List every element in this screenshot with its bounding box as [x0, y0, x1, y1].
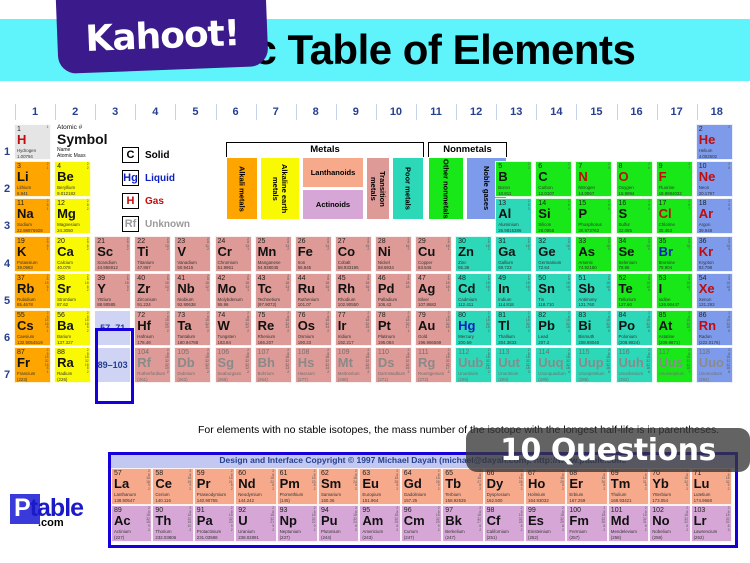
element-cell-Ni[interactable]: 28NiNickel58.693428162 — [375, 236, 412, 272]
element-name: Tellurium — [619, 297, 637, 302]
element-cell-Zr[interactable]: 40ZrZirconium91.2242818102 — [134, 273, 171, 309]
element-name: Meitnerium — [338, 371, 360, 376]
category-block-transition-metals[interactable]: Transition metals — [366, 157, 390, 220]
element-cell-Lr[interactable]: 103LrLawrencium(262)2818323283 — [691, 505, 732, 542]
element-atomic-mass: 174.9668 — [694, 498, 712, 503]
element-cell-Sb[interactable]: 51SbAntimony121.7602818185 — [575, 273, 612, 309]
element-cell-Lu[interactable]: 71LuLutetium174.966828183292 — [691, 468, 732, 505]
state-legend-row-gas[interactable]: HGas — [122, 191, 190, 211]
group-number-10[interactable]: 10 — [376, 104, 415, 120]
element-name: Curium — [404, 529, 418, 534]
element-cell-Bh[interactable]: 107BhBohrium(264)28183232132 — [255, 347, 292, 383]
element-shell-config: 285 — [608, 200, 610, 211]
element-cell-Sr[interactable]: 38SrStrontium87.62281882 — [54, 273, 91, 309]
element-cell-Ds[interactable]: 110DsDarmstadtium(271)28183232162 — [375, 347, 412, 383]
element-symbol: Uuq — [538, 356, 563, 370]
element-name: Rhenium — [258, 334, 276, 339]
element-cell-Rn[interactable]: 86RnRadon(222.0176)281832188 — [696, 310, 733, 346]
element-cell-Be[interactable]: 4BeBeryllium9.01218222 — [54, 161, 91, 197]
element-cell-Uub[interactable]: 112UubUnunbium(285)28183232182 — [455, 347, 492, 383]
period-number-3[interactable]: 3 — [0, 208, 14, 245]
category-block-other-nonmetals[interactable]: Other nonmetals — [428, 157, 464, 220]
element-cell-Cl[interactable]: 17ClChlorine35.453287 — [656, 198, 693, 234]
element-symbol: Es — [528, 514, 544, 528]
element-name: Magnesium — [57, 222, 80, 227]
element-shell-config: 284 — [568, 200, 570, 211]
element-cell-Yb[interactable]: 70YbYtterbium173.05428183282 — [649, 468, 690, 505]
element-cell-Hg[interactable]: 80HgMercury200.59281832182 — [455, 310, 492, 346]
element-cell-Uut[interactable]: 113UutUnuntrium(284)28183232183 — [495, 347, 532, 383]
element-cell-Uuo[interactable]: 118UuoUnunoctium(294)28183232188 — [696, 347, 733, 383]
element-atomic-mass: 10.811 — [498, 191, 511, 196]
category-bracket-metals: Metals — [226, 142, 424, 157]
element-atomic-mass: 9.012182 — [57, 191, 75, 196]
group-number-1[interactable]: 1 — [15, 104, 54, 120]
element-cell-Y[interactable]: 39YYttrium88.90585281892 — [94, 273, 131, 309]
element-shell-config: 281832183 — [526, 312, 530, 334]
element-cell-Ho[interactable]: 67HoHolmium164.9303228182982 — [525, 468, 566, 505]
element-name: Cerium — [155, 492, 169, 497]
period-number-6[interactable]: 6 — [0, 320, 14, 357]
element-atomic-mass: 140.90765 — [197, 498, 218, 503]
element-cell-B[interactable]: 5BBoron10.81123 — [495, 161, 532, 197]
element-cell-Mt[interactable]: 109MtMeitnerium(268)28183232152 — [335, 347, 372, 383]
element-cell-Tc[interactable]: 43TcTechnetium(97.9072)2818132 — [255, 273, 292, 309]
element-shell-config: 28142 — [325, 238, 329, 252]
element-cell-Zn[interactable]: 30ZnZinc65.3828182 — [455, 236, 492, 272]
element-atomic-mass: 30.973762 — [578, 228, 599, 233]
element-cell-Re[interactable]: 75ReRhenium186.207281832132 — [255, 310, 292, 346]
element-shell-config: 28182982 — [560, 470, 564, 492]
element-symbol: Br — [659, 245, 673, 259]
element-name: Antimony — [578, 297, 596, 302]
element-shell-config: 28183232187 — [686, 349, 690, 374]
element-symbol: Ar — [699, 207, 713, 221]
element-symbol: No — [652, 514, 669, 528]
element-shell-config: 28183232183 — [526, 349, 530, 374]
element-symbol: Rn — [699, 319, 716, 333]
element-shell-config: 28162 — [406, 238, 410, 252]
element-cell-Uuq[interactable]: 114UuqUnunquadium(289)28183232184 — [535, 347, 572, 383]
state-legend-row-solid[interactable]: CSolid — [122, 145, 190, 165]
element-shell-config: 28183082 — [602, 470, 606, 492]
group-number-12[interactable]: 12 — [456, 104, 495, 120]
element-symbol: K — [17, 245, 26, 259]
element-shell-config: 28186 — [646, 238, 650, 252]
group-number-3[interactable]: 3 — [95, 104, 134, 120]
element-symbol: Pr — [197, 477, 211, 491]
element-cell-Am[interactable]: 95AmAmericium(243)2818322582 — [359, 505, 400, 542]
element-atomic-mass: 150.36 — [321, 498, 334, 503]
element-cell-Sm[interactable]: 62SmSamarium150.3628182482 — [318, 468, 359, 505]
element-name: Uranium — [238, 529, 255, 534]
element-shell-config: 281832152 — [366, 312, 370, 334]
element-symbol: Ru — [298, 282, 315, 296]
element-symbol: Bk — [445, 514, 462, 528]
element-atomic-mass: 131.293 — [699, 302, 715, 307]
element-cell-C[interactable]: 6CCarbon12.010724 — [535, 161, 572, 197]
element-name: Terbium — [445, 492, 461, 497]
element-cell-Ti[interactable]: 22TiTitanium47.86728102 — [134, 236, 171, 272]
element-name: Yttrium — [97, 297, 111, 302]
element-name: Bromine — [659, 260, 675, 265]
element-symbol: Rf — [137, 356, 151, 370]
f-block-pointer-box — [95, 328, 134, 404]
category-legend: MetalsNonmetalsAlkali metalsAlkaline ear… — [226, 142, 507, 220]
element-cell-Pd[interactable]: 46PdPalladium106.42281818 — [375, 273, 412, 309]
element-cell-Hf[interactable]: 72HfHafnium178.49281832102 — [134, 310, 171, 346]
group-number-14[interactable]: 14 — [536, 104, 575, 120]
period-number-4[interactable]: 4 — [0, 246, 14, 283]
element-cell-As[interactable]: 33AsArsenic74.9216028185 — [575, 236, 612, 272]
element-cell-Gd[interactable]: 64GdGadolinium157.2528182592 — [401, 468, 442, 505]
element-name: Berkelium — [445, 529, 465, 534]
element-cell-S[interactable]: 16SSulfur32.065286 — [616, 198, 653, 234]
element-cell-O[interactable]: 8OOxygen15.999426 — [616, 161, 653, 197]
element-atomic-mass: 32.065 — [619, 228, 632, 233]
element-cell-Pm[interactable]: 61PmPromethium(145)28182382 — [277, 468, 318, 505]
element-shell-config: 28184 — [566, 238, 570, 252]
element-shell-config: 2818323283 — [726, 507, 730, 532]
element-shell-config: 288 — [728, 200, 730, 211]
group-number-7[interactable]: 7 — [256, 104, 295, 120]
element-shell-config: 281882 — [85, 275, 89, 293]
element-atomic-mass: 44.955912 — [97, 265, 118, 270]
element-cell-Tb[interactable]: 65TbTerbium158.9253528182782 — [442, 468, 483, 505]
group-number-9[interactable]: 9 — [336, 104, 375, 120]
element-shell-config: 2818322092 — [229, 507, 233, 532]
element-cell-Cs[interactable]: 55CsCaesium132.905451928181881 — [14, 310, 51, 346]
element-cell-Ar[interactable]: 18ArArgon39.948288 — [696, 198, 733, 234]
state-legend-row-unknown[interactable]: RfUnknown — [122, 214, 190, 234]
key-symbol-label: Symbol — [57, 132, 127, 147]
element-cell-Ra[interactable]: 88RaRadium(226)2818321882 — [54, 347, 91, 383]
element-cell-Ir[interactable]: 77IrIridium192.217281832152 — [335, 310, 372, 346]
element-cell-Db[interactable]: 105DbDubnium(262)28183232112 — [174, 347, 211, 383]
group-number-18[interactable]: 18 — [697, 104, 736, 120]
element-cell-Ru[interactable]: 44RuRuthenium101.072818151 — [295, 273, 332, 309]
element-cell-Fe[interactable]: 26FeIron55.84528142 — [295, 236, 332, 272]
element-cell-Nd[interactable]: 60NdNeodymium144.24228182282 — [235, 468, 276, 505]
element-cell-Uus[interactable]: 117UusUnunseptium28183232187 — [656, 347, 693, 383]
element-cell-V[interactable]: 23VVanadium50.941528112 — [174, 236, 211, 272]
element-cell-Sc[interactable]: 21ScScandium44.9559122892 — [94, 236, 131, 272]
element-cell-Na[interactable]: 11NaSodium22.98976928281 — [14, 198, 51, 234]
element-cell-Mg[interactable]: 12MgMagnesium24.3050282 — [54, 198, 91, 234]
element-cell-U[interactable]: 92UUranium238.028912818322192 — [235, 505, 276, 542]
element-name: Bismuth — [578, 334, 594, 339]
element-shell-config: 25 — [608, 163, 610, 170]
element-name: Sulfur — [619, 222, 630, 227]
element-cell-Mo[interactable]: 42MoMolybdenum95.962818131 — [215, 273, 252, 309]
period-number-1[interactable]: 1 — [0, 134, 14, 171]
element-atomic-mass: 20.1797 — [699, 191, 715, 196]
category-block-actinoids[interactable]: Actinoids — [302, 189, 364, 220]
element-atomic-mass: 140.116 — [155, 498, 171, 503]
element-symbol: Uuo — [699, 356, 724, 370]
category-block-poor-metals[interactable]: Poor metals — [392, 157, 424, 220]
element-cell-Es[interactable]: 99EsEinsteinium(252)2818322982 — [525, 505, 566, 542]
element-cell-Er[interactable]: 68ErErbium167.25928183082 — [566, 468, 607, 505]
element-cell-Uup[interactable]: 115UupUnunpentium(288)28183232185 — [575, 347, 612, 383]
element-shell-config: 28183232186 — [646, 349, 650, 374]
element-cell-Rf[interactable]: 104RfRutherfordium(261)28183232102 — [134, 347, 171, 383]
element-atomic-mass: 47.867 — [137, 265, 150, 270]
group-number-17[interactable]: 17 — [657, 104, 696, 120]
element-cell-Pa[interactable]: 91PaProtactinium231.035882818322092 — [194, 505, 235, 542]
element-symbol: Sb — [578, 282, 595, 296]
element-name: Vanadium — [177, 260, 196, 265]
element-shell-config: 2818322982 — [560, 507, 564, 532]
element-cell-Xe[interactable]: 54XeXenon131.2932818188 — [696, 273, 733, 309]
element-atomic-mass: 54.938045 — [258, 265, 279, 270]
element-symbol: Zr — [137, 282, 150, 296]
element-shell-config: 28112 — [205, 238, 209, 252]
element-cell-Au[interactable]: 79AuGold196.966569281832181 — [415, 310, 452, 346]
element-symbol: Uub — [458, 356, 483, 370]
element-cell-Pb[interactable]: 82PbLead207.2281832184 — [535, 310, 572, 346]
element-atomic-mass: 1.00794 — [17, 154, 33, 159]
element-cell-Bk[interactable]: 97BkBerkelium(247)2818322782 — [442, 505, 483, 542]
group-number-13[interactable]: 13 — [496, 104, 535, 120]
group-number-8[interactable]: 8 — [296, 104, 335, 120]
element-cell-Pr[interactable]: 59PrPraseodymium140.9076528182182 — [194, 468, 235, 505]
element-name: Tungsten — [218, 334, 236, 339]
element-cell-N[interactable]: 7NNitrogen14.006725 — [575, 161, 612, 197]
element-shell-config: 28183232185 — [606, 349, 610, 374]
element-cell-Ce[interactable]: 58CeCerium140.11628181992 — [152, 468, 193, 505]
element-atomic-mass: 162.500 — [487, 498, 503, 503]
element-cell-Al[interactable]: 13AlAluminium26.9815386283 — [495, 198, 532, 234]
period-number-2[interactable]: 2 — [0, 171, 14, 208]
element-cell-Rh[interactable]: 45RhRhodium102.905502818161 — [335, 273, 372, 309]
element-cell-Md[interactable]: 101MdMendelevium(258)2818323182 — [608, 505, 649, 542]
key-legend: Atomic # Symbol Name Atomic Mass — [57, 124, 127, 159]
element-cell-At[interactable]: 85AtAstatine(209.9871)281832187 — [656, 310, 693, 346]
element-symbol: Nb — [177, 282, 194, 296]
element-cell-Sn[interactable]: 50SnTin118.7102818184 — [535, 273, 572, 309]
category-block-alkali-metals[interactable]: Alkali metals — [226, 157, 258, 220]
state-legend: CSolidHgLiquidHGasRfUnknown — [122, 145, 190, 237]
element-cell-Cu[interactable]: 29CuCopper63.54628181 — [415, 236, 452, 272]
element-symbol: Pb — [538, 319, 555, 333]
element-cell-Os[interactable]: 76OsOsmium190.23281832142 — [295, 310, 332, 346]
element-shell-config: 28182782 — [477, 470, 481, 492]
element-atomic-mass: (247) — [404, 535, 414, 540]
element-symbol: Ce — [155, 477, 172, 491]
element-cell-Hs[interactable]: 108HsHassium(277)28183232142 — [295, 347, 332, 383]
period-number-5[interactable]: 5 — [0, 283, 14, 320]
element-atomic-mass: 158.92535 — [445, 498, 466, 503]
element-shell-config: 281 — [47, 200, 49, 211]
element-name: Titanium — [137, 260, 154, 265]
element-cell-Ta[interactable]: 73TaTantalum180.94788281832112 — [174, 310, 211, 346]
element-shell-config: 287 — [688, 200, 690, 211]
element-cell-Ne[interactable]: 10NeNeon20.179728 — [696, 161, 733, 197]
element-atomic-mass: 69.723 — [498, 265, 511, 270]
element-name: Tin — [538, 297, 544, 302]
element-symbol: Bi — [578, 319, 591, 333]
element-atomic-mass: (227) — [114, 535, 124, 540]
group-number-11[interactable]: 11 — [416, 104, 455, 120]
element-shell-config: 28183232184 — [566, 349, 570, 374]
element-symbol: Kr — [699, 245, 713, 259]
element-cell-No[interactable]: 102NoNobelium(259)2818323282 — [649, 505, 690, 542]
element-atomic-mass: 58.6934 — [378, 265, 394, 270]
element-atomic-mass: 39.948 — [699, 228, 712, 233]
element-atomic-mass: (252) — [528, 535, 538, 540]
element-symbol: He — [699, 133, 716, 147]
element-cell-P[interactable]: 15PPhosphorus30.973762285 — [575, 198, 612, 234]
element-cell-Fr[interactable]: 87FrFrancium(223)2818321881 — [14, 347, 51, 383]
element-shell-config: 28183232142 — [325, 349, 329, 374]
element-cell-I[interactable]: 53IIodine126.904472818187 — [656, 273, 693, 309]
element-cell-Cm[interactable]: 96CmCurium(247)2818322592 — [401, 505, 442, 542]
element-symbol: Ti — [137, 245, 148, 259]
element-symbol: Pa — [197, 514, 213, 528]
element-shell-config: 2818151 — [325, 275, 329, 293]
element-cell-Dy[interactable]: 66DyDysprosium162.50028182882 — [484, 468, 525, 505]
element-cell-Pt[interactable]: 78PtPlatinum195.084281832171 — [375, 310, 412, 346]
element-symbol: Rb — [17, 282, 34, 296]
element-name: Erbium — [569, 492, 583, 497]
element-cell-La[interactable]: 57LaLanthanum138.9054728181892 — [111, 468, 152, 505]
element-cell-Tm[interactable]: 69TmThulium168.9342128183182 — [608, 468, 649, 505]
element-name: Rhodium — [338, 297, 356, 302]
ptable-logo[interactable]: Ptable .com — [4, 490, 104, 534]
element-cell-In[interactable]: 49InIndium114.8182818183 — [495, 273, 532, 309]
element-cell-Ge[interactable]: 32GeGermanium72.6428184 — [535, 236, 572, 272]
element-cell-Np[interactable]: 93NpNeptunium(237)2818322292 — [277, 505, 318, 542]
element-cell-Uuh[interactable]: 116UuhUnunhexium(292)28183232186 — [616, 347, 653, 383]
key-sample-cell[interactable]: 1HHydrogen1.007941 — [14, 124, 51, 160]
element-shell-config: 28183232122 — [245, 349, 249, 374]
element-cell-Th[interactable]: 90ThThorium232.0380628183218102 — [152, 505, 193, 542]
element-cell-Mn[interactable]: 25MnManganese54.93804528132 — [255, 236, 292, 272]
element-cell-Eu[interactable]: 63EuEuropium151.96428182582 — [359, 468, 400, 505]
element-shell-config: 2818132 — [285, 275, 289, 293]
element-atomic-mass: (247) — [445, 535, 455, 540]
element-name: Dysprosium — [487, 492, 510, 497]
key-mass-label: Atomic Mass — [57, 153, 127, 159]
element-cell-Cd[interactable]: 48CdCadmium112.4112818182 — [455, 273, 492, 309]
element-cell-Sg[interactable]: 106SgSeaborgium(266)28183232122 — [215, 347, 252, 383]
element-symbol: C — [538, 170, 547, 184]
element-cell-Tl[interactable]: 81TlThallium204.3833281832183 — [495, 310, 532, 346]
element-cell-Cr[interactable]: 24CrChromium51.996128131 — [215, 236, 252, 272]
element-symbol: Y — [97, 282, 106, 296]
element-shell-config: 281832187 — [686, 312, 690, 334]
element-atomic-mass: (262) — [694, 535, 704, 540]
element-atomic-mass: 137.327 — [57, 340, 73, 345]
element-shell-config: 2818322782 — [477, 507, 481, 532]
element-cell-F[interactable]: 9FFluorine18.998403227 — [656, 161, 693, 197]
group-number-2[interactable]: 2 — [55, 104, 94, 120]
element-shell-config: 2818187 — [686, 275, 690, 293]
element-cell-Te[interactable]: 52TeTellurium127.602818186 — [616, 273, 653, 309]
element-atomic-mass: 22.98976928 — [17, 228, 43, 233]
element-name: Barium — [57, 334, 71, 339]
element-cell-Ga[interactable]: 31GaGallium69.72328183 — [495, 236, 532, 272]
state-legend-symbol: Rf — [122, 216, 139, 232]
element-name: Sodium — [17, 222, 32, 227]
element-name: Thorium — [155, 529, 171, 534]
element-shell-config: 28183232162 — [406, 349, 410, 374]
element-name: Fermium — [569, 529, 586, 534]
element-name: Nickel — [378, 260, 390, 265]
element-cell-Kr[interactable]: 36KrKrypton83.79828188 — [696, 236, 733, 272]
element-cell-Bi[interactable]: 83BiBismuth208.98040281832185 — [575, 310, 612, 346]
element-shell-config: 2 — [728, 126, 730, 130]
category-block-lanthanoids[interactable]: Lanthanoids — [302, 157, 364, 188]
element-cell-Fm[interactable]: 100FmFermium(257)2818323082 — [566, 505, 607, 542]
period-number-7[interactable]: 7 — [0, 357, 14, 394]
element-cell-He[interactable]: 2HeHelium4.0026022 — [696, 124, 733, 160]
group-number-4[interactable]: 4 — [135, 104, 174, 120]
element-shell-config: 28183232182 — [486, 349, 490, 374]
element-shell-config: 2818188 — [726, 275, 730, 293]
element-cell-Si[interactable]: 14SiSilicon28.0855284 — [535, 198, 572, 234]
element-atomic-mass: 102.90550 — [338, 302, 359, 307]
element-cell-Ag[interactable]: 47AgSilver107.86822818181 — [415, 273, 452, 309]
element-name: Roentgenium — [418, 371, 444, 376]
element-symbol: Ga — [498, 245, 515, 259]
element-cell-K[interactable]: 19KPotassium39.09832881 — [14, 236, 51, 272]
element-symbol: Zn — [458, 245, 474, 259]
element-cell-Cf[interactable]: 98CfCalifornium(251)2818322882 — [484, 505, 525, 542]
element-name: Oxygen — [619, 185, 634, 190]
element-shell-config: 28 — [728, 163, 730, 170]
element-cell-Se[interactable]: 34SeSelenium78.9628186 — [616, 236, 653, 272]
element-symbol: Ge — [538, 245, 555, 259]
group-number-6[interactable]: 6 — [216, 104, 255, 120]
element-cell-Po[interactable]: 84PoPolonium(208.9824)281832186 — [616, 310, 653, 346]
element-name: Astatine — [659, 334, 675, 339]
element-symbol: Uup — [578, 356, 603, 370]
element-cell-Ca[interactable]: 20CaCalcium40.0782882 — [54, 236, 91, 272]
element-shell-config: 2818181 — [446, 275, 450, 293]
state-legend-row-liquid[interactable]: HgLiquid — [122, 168, 190, 188]
group-number-15[interactable]: 15 — [576, 104, 615, 120]
element-cell-Li[interactable]: 3LiLithium6.94121 — [14, 161, 51, 197]
element-atomic-mass: (261) — [137, 377, 147, 382]
element-atomic-mass: 40.078 — [57, 265, 70, 270]
element-symbol: Cm — [404, 514, 425, 528]
group-number-16[interactable]: 16 — [617, 104, 656, 120]
element-shell-config: 281832112 — [205, 312, 209, 334]
element-cell-Ac[interactable]: 89AcActinium(227)2818321892 — [111, 505, 152, 542]
element-atomic-mass: (284) — [498, 377, 508, 382]
element-cell-W[interactable]: 74WTungsten183.84281832122 — [215, 310, 252, 346]
element-symbol: Er — [569, 477, 583, 491]
element-cell-Co[interactable]: 27CoCobalt58.93319528152 — [335, 236, 372, 272]
category-block-alkaline-earth-metals[interactable]: Alkaline earth metals — [260, 157, 300, 220]
element-name: Darmstadtium — [378, 371, 405, 376]
element-shell-config: 282 — [87, 200, 89, 211]
element-cell-Pu[interactable]: 94PuPlutonium(244)2818322482 — [318, 505, 359, 542]
group-number-5[interactable]: 5 — [175, 104, 214, 120]
element-cell-Br[interactable]: 35BrBromine79.90428187 — [656, 236, 693, 272]
element-symbol: H — [17, 133, 26, 147]
element-name: Iridium — [338, 334, 351, 339]
element-cell-Nb[interactable]: 41NbNiobium92.906382818121 — [174, 273, 211, 309]
element-cell-Rb[interactable]: 37RbRubidium85.4678281881 — [14, 273, 51, 309]
element-cell-Ba[interactable]: 56BaBarium137.32728181882 — [54, 310, 91, 346]
element-symbol: U — [238, 514, 247, 528]
element-cell-Rg[interactable]: 111RgRoentgenium(272)28183232172 — [415, 347, 452, 383]
element-shell-config: 27 — [688, 163, 690, 170]
element-atomic-mass: (244) — [321, 535, 331, 540]
